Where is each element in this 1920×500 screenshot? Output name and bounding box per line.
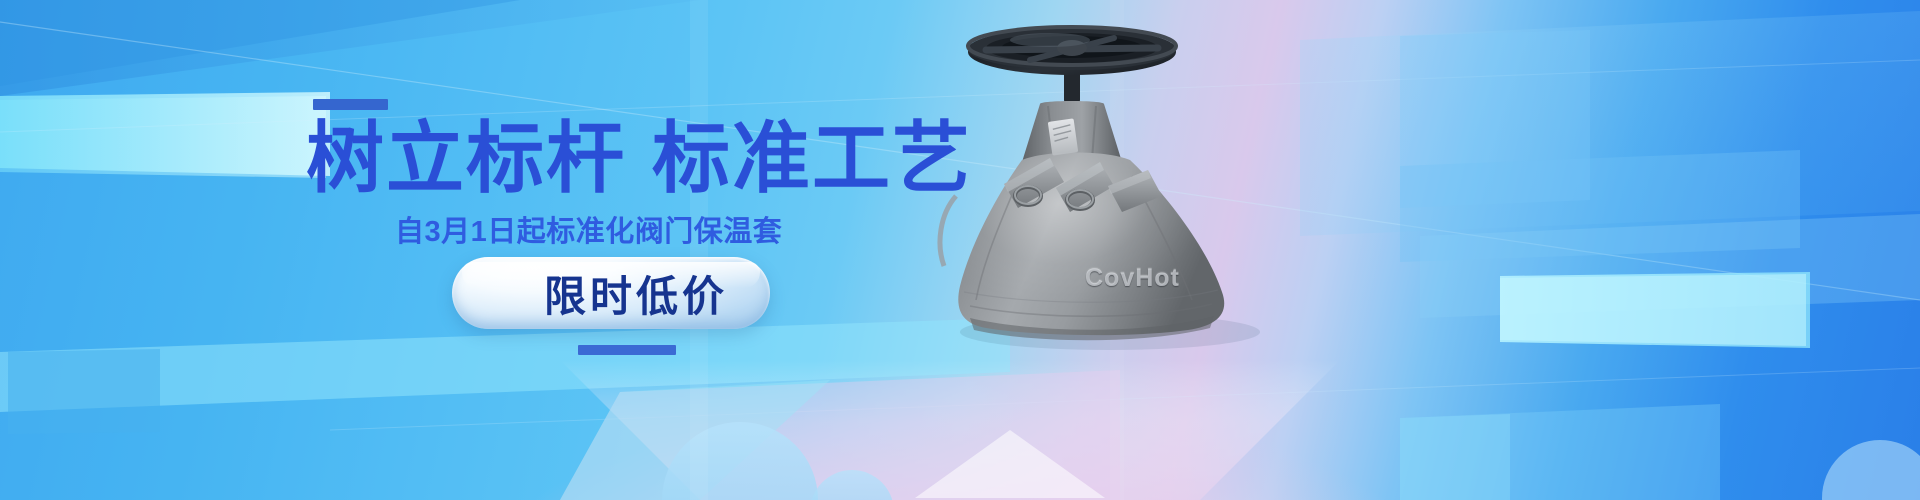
accent-bar-icon	[313, 99, 388, 110]
underline-bar-icon	[578, 345, 676, 355]
valve-insulation-jacket-illustration	[900, 0, 1380, 500]
page-title: 树立标杆标准工艺	[306, 115, 946, 201]
banner-copy-block: 树立标杆标准工艺 自3月1日起标准化阀门保温套 限时低价	[0, 0, 1000, 500]
banner-subtitle: 自3月1日起标准化阀门保温套	[395, 214, 915, 250]
valve-handwheel-icon	[968, 27, 1176, 75]
product-spec-tag	[1048, 118, 1078, 155]
promo-banner: 树立标杆标准工艺 自3月1日起标准化阀门保温套 限时低价	[0, 0, 1920, 500]
product-image: CovHot	[900, 0, 1380, 500]
jacket-hang-loop	[940, 196, 956, 266]
cta-button[interactable]: 限时低价	[452, 257, 770, 329]
headline-part-1: 树立标杆	[306, 114, 626, 202]
cta-button-label: 限时低价	[452, 257, 770, 329]
